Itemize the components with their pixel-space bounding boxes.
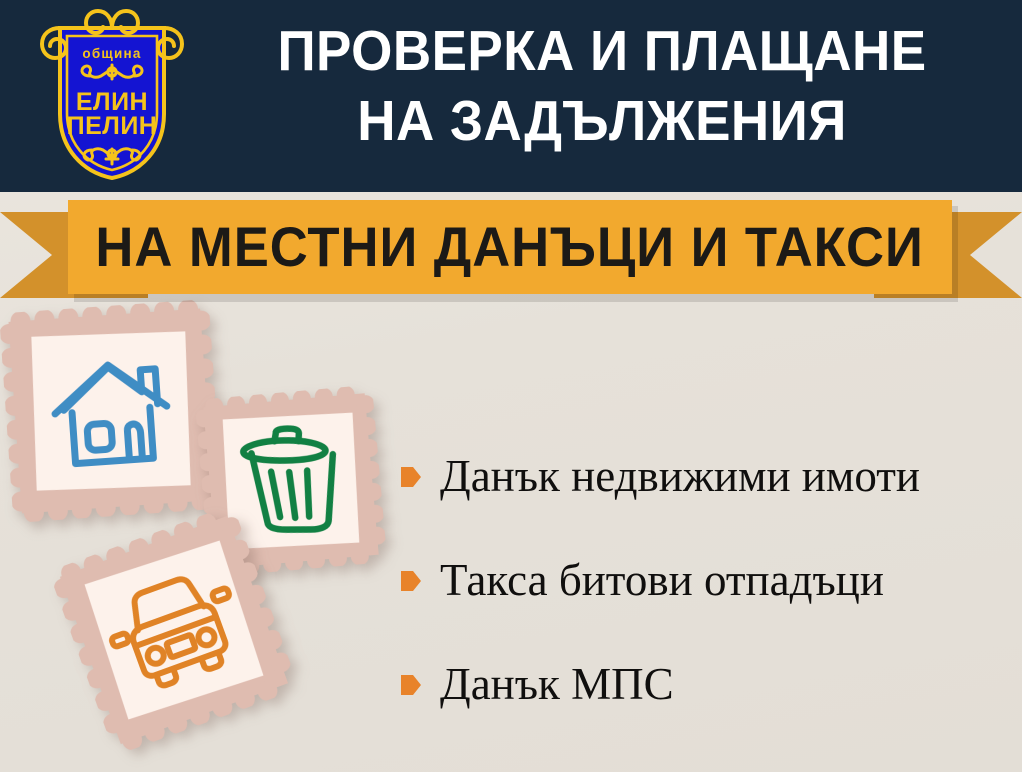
emblem-name-line2: ПЕЛИН: [67, 112, 158, 140]
list-item-label: Такса битови отпадъци: [440, 555, 884, 605]
ribbon-banner: НА МЕСТНИ ДАНЪЦИ И ТАКСИ: [68, 200, 952, 294]
header-title-block: ПРОВЕРКА И ПЛАЩАНЕ НА ЗАДЪЛЖЕНИЯ: [196, 16, 1008, 156]
tax-types-list: Данък недвижими имоти Такса битови отпад…: [400, 424, 1010, 736]
ribbon-label: НА МЕСТНИ ДАНЪЦИ И ТАКСИ: [96, 218, 924, 276]
municipality-emblem: община ЕЛИН ПЕЛИН: [38, 6, 186, 186]
page-title-line-1: ПРОВЕРКА И ПЛАЩАНЕ: [224, 16, 979, 86]
coat-of-arms-icon: община ЕЛИН ПЕЛИН: [38, 6, 186, 186]
list-item[interactable]: Данък недвижими имоти: [400, 424, 1010, 528]
arrow-bullet-icon: [400, 568, 422, 594]
list-item[interactable]: Данък МПС: [400, 632, 1010, 736]
stamp-cards-group: [0, 300, 420, 772]
subtitle-ribbon: НА МЕСТНИ ДАНЪЦИ И ТАКСИ: [0, 198, 1022, 308]
arrow-bullet-icon: [400, 464, 422, 490]
poster-canvas: община ЕЛИН ПЕЛИН: [0, 0, 1022, 772]
house-stamp-svg: [0, 299, 223, 523]
list-item[interactable]: Такса битови отпадъци: [400, 528, 1010, 632]
stamp-card-property-tax: [0, 299, 223, 523]
arrow-bullet-icon: [400, 672, 422, 698]
emblem-top-text: община: [82, 46, 141, 61]
header-band: община ЕЛИН ПЕЛИН: [0, 0, 1022, 192]
list-item-label: Данък МПС: [440, 659, 674, 709]
page-title-line-2: НА ЗАДЪЛЖЕНИЯ: [224, 86, 979, 156]
list-item-label: Данък недвижими имоти: [440, 451, 920, 501]
